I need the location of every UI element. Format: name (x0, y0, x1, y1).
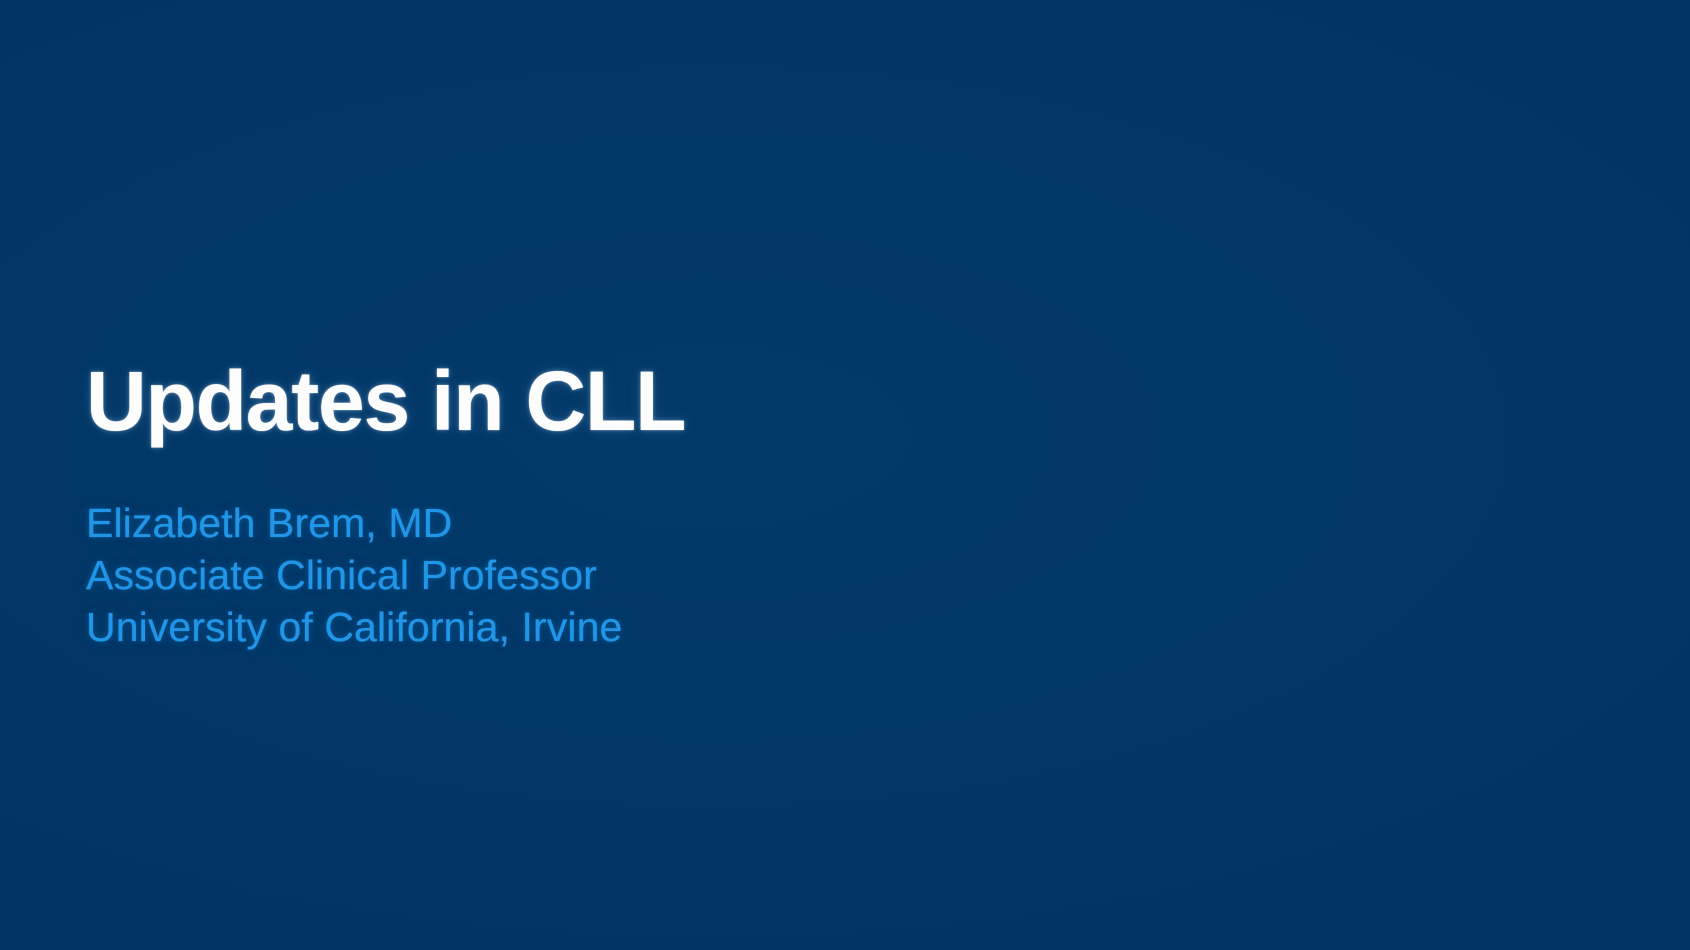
presenter-byline: Elizabeth Brem, MD Associate Clinical Pr… (86, 497, 1466, 653)
presenter-name: Elizabeth Brem, MD (86, 497, 1466, 549)
presenter-affiliation: University of California, Irvine (86, 601, 1466, 653)
page-title: Updates in CLL (86, 352, 1466, 450)
slide-content-block: Updates in CLL Elizabeth Brem, MD Associ… (86, 352, 1466, 653)
title-slide: Updates in CLL Elizabeth Brem, MD Associ… (0, 0, 1690, 950)
presenter-title: Associate Clinical Professor (86, 549, 1466, 601)
